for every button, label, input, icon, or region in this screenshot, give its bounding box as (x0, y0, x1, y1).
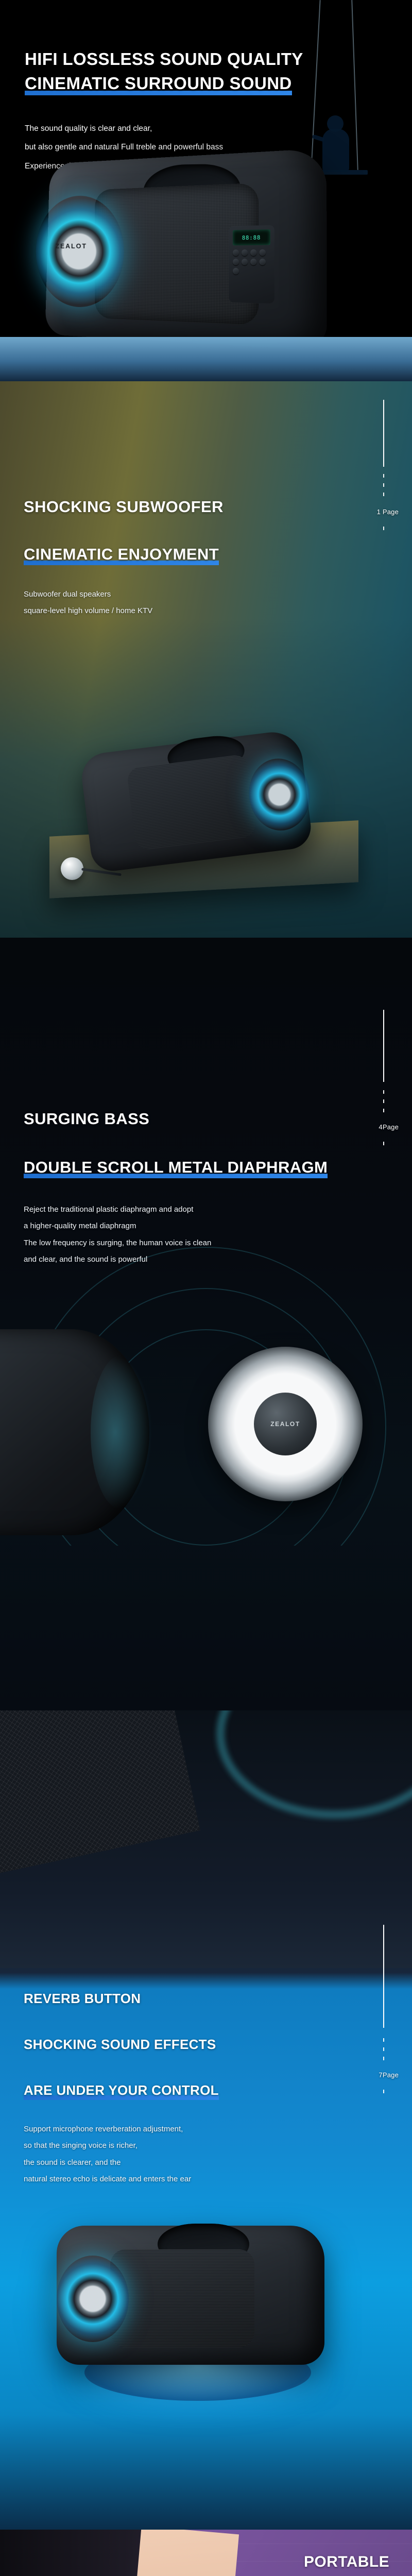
reverb-section: 7Page REVERB BUTTON SHOCKING SOUND EFFEC… (0, 1710, 412, 2530)
subwoofer-copy: SHOCKING SUBWOOFER CINEMATIC ENJOYMENT S… (24, 496, 224, 620)
subwoofer-body: Subwoofer dual speakers square-level hig… (24, 586, 224, 620)
subwoofer-title-line2: CINEMATIC ENJOYMENT (24, 543, 219, 566)
page-marker-line (383, 1010, 384, 1082)
speaker-control-panel: 88:88 (229, 225, 274, 303)
portable-copy: PORTABLE ENJOY ANYWHERE YOU GO Humanized… (173, 2551, 389, 2576)
bass-body-line1: Reject the traditional plastic diaphragm… (24, 1201, 328, 1218)
speaker-grille (126, 754, 257, 851)
bass-body-line3: The low frequency is surging, the human … (24, 1235, 328, 1251)
page-marker-line (383, 400, 384, 467)
reverb-upper-scene (0, 1710, 412, 1968)
metal-diaphragm-driver: ZEALOT (208, 1347, 363, 1501)
subwoofer-section: 1 Page SHOCKING SUBWOOFER CINEMATIC ENJO… (0, 381, 412, 938)
bass-title-line2: DOUBLE SCROLL METAL DIAPHRAGM (24, 1156, 328, 1179)
speaker-led-ring (57, 2256, 129, 2342)
page-marker-subwoofer: 1 Page (377, 508, 399, 516)
hero-body-line1: The sound quality is clear and clear, (25, 120, 412, 138)
speaker-lcd-display: 88:88 (233, 229, 270, 245)
reverb-body: Support microphone reverberation adjustm… (24, 2121, 219, 2188)
reverb-body-line3: the sound is clearer, and the (24, 2155, 219, 2171)
reverb-body-line1: Support microphone reverberation adjustm… (24, 2121, 219, 2138)
reverb-title-line3: ARE UNDER YOUR CONTROL (24, 2080, 219, 2100)
bass-body-line4: and clear, and the sound is powerful (24, 1251, 328, 1268)
subwoofer-title-line1: SHOCKING SUBWOOFER (24, 496, 224, 518)
speaker-grille (110, 2249, 254, 2347)
surging-bass-section: 4Page SURGING BASS DOUBLE SCROLL METAL D… (0, 938, 412, 1710)
speaker-mesh-texture (0, 1710, 200, 1875)
hero-speaker-product-image: ZEALOT 88:88 (31, 156, 319, 341)
hero-reflective-floor (0, 337, 412, 381)
driver-product-image: ZEALOT (0, 1309, 412, 1577)
subwoofer-body-line2: square-level high volume / home KTV (24, 603, 224, 619)
page-marker-dots (383, 1090, 384, 1118)
reverb-body-line4: natural stereo echo is delicate and ente… (24, 2171, 219, 2188)
driver-dust-cap-logo: ZEALOT (254, 1393, 317, 1455)
reverb-title-line1: REVERB BUTTON (24, 1989, 219, 2009)
microphone-prop (61, 857, 83, 880)
glow-arc (216, 1710, 412, 1819)
speaker-enclosure-cutaway (0, 1329, 149, 1535)
brand-logo: ZEALOT (56, 242, 88, 250)
hero-section: HIFI LOSSLESS SOUND QUALITY CINEMATIC SU… (0, 0, 412, 381)
bass-body: Reject the traditional plastic diaphragm… (24, 1201, 328, 1268)
reverb-product-image (57, 2226, 324, 2365)
page-marker-dots (383, 2038, 384, 2066)
hero-copy: HIFI LOSSLESS SOUND QUALITY CINEMATIC SU… (0, 0, 412, 176)
reverb-body-line2: so that the singing voice is richer, (24, 2138, 219, 2154)
reverb-copy: REVERB BUTTON SHOCKING SOUND EFFECTS ARE… (24, 1989, 219, 2188)
page-marker-dots-lower (383, 2090, 384, 2099)
page-marker-bass: 4Page (379, 1123, 399, 1131)
bass-body-line2: a higher-quality metal diaphragm (24, 1218, 328, 1234)
page-marker-line (383, 1925, 384, 2028)
bass-title-line1: SURGING BASS (24, 1108, 328, 1130)
speaker-button-cluster (233, 249, 270, 275)
portable-section: PORTABLE ENJOY ANYWHERE YOU GO Humanized… (0, 2530, 412, 2576)
page-marker-dots-lower (383, 527, 384, 536)
page-marker-dots (383, 474, 384, 502)
portable-title-line1: PORTABLE (173, 2551, 389, 2573)
page-marker-reverb: 7Page (379, 2071, 399, 2079)
bass-copy: SURGING BASS DOUBLE SCROLL METAL DIAPHRA… (24, 1108, 328, 1268)
hero-title-line1: HIFI LOSSLESS SOUND QUALITY (25, 47, 412, 72)
portable-title-line2: ENJOY ANYWHERE YOU GO (173, 2573, 389, 2576)
hero-title-line2: CINEMATIC SURROUND SOUND (25, 72, 292, 96)
reverb-title-line2: SHOCKING SOUND EFFECTS (24, 2035, 219, 2055)
page-marker-dots-lower (383, 1142, 384, 1151)
subwoofer-body-line1: Subwoofer dual speakers (24, 586, 224, 603)
